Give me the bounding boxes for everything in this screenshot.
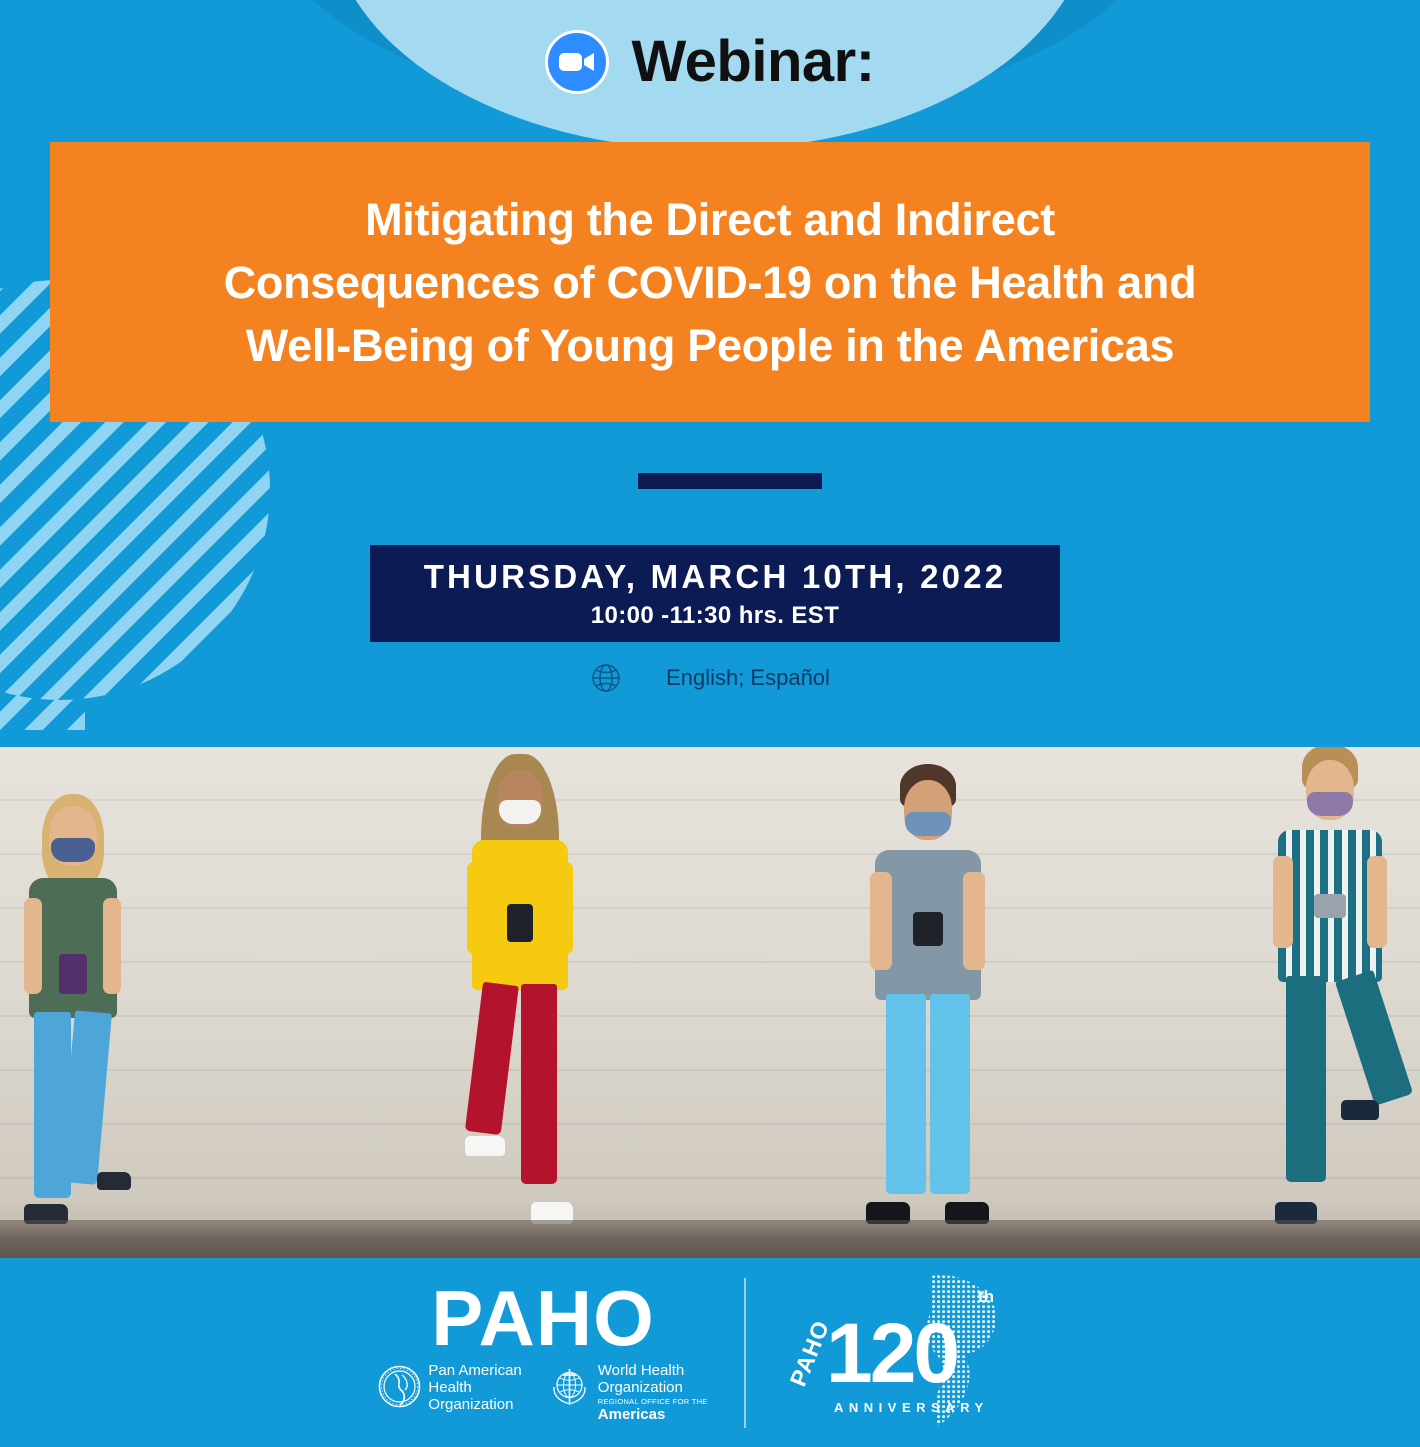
pan-american-health-organization-logo: Pan American Health Organization (378, 1363, 521, 1414)
person-2-mask (499, 800, 541, 824)
person-2 (455, 754, 585, 1224)
language-row: English; Español (0, 662, 1420, 694)
who-region-name: Americas (598, 1407, 708, 1424)
photo-young-people (0, 747, 1420, 1258)
webinar-poster: Webinar: Mitigating the Direct and Indir… (0, 0, 1420, 1447)
event-date: THURSDAY, MARCH 10TH, 2022 (424, 557, 1007, 597)
zoom-video-icon (545, 30, 609, 94)
person-4-mask (1307, 792, 1353, 816)
paho-logo: PAHO Pan Am (378, 1281, 707, 1424)
event-time: 10:00 -11:30 hrs. EST (591, 602, 840, 630)
paho-120th-anniversary-logo: PAHO 120 th ANNIVERSARY (782, 1270, 1042, 1435)
divider-bar (638, 473, 822, 489)
ground-strip (0, 1224, 1420, 1258)
anniversary-label: ANNIVERSARY (834, 1400, 989, 1415)
person-1-arm-right (103, 898, 121, 994)
title-banner: Mitigating the Direct and Indirect Conse… (50, 142, 1370, 422)
title-line-2: Consequences of COVID-19 on the Health a… (224, 260, 1197, 305)
who-emblem-icon (548, 1365, 591, 1408)
person-4-arm-right (1367, 856, 1387, 948)
footer-divider (744, 1278, 746, 1428)
webinar-header: Webinar: (0, 30, 1420, 94)
webinar-label: Webinar: (631, 33, 874, 91)
person-3 (860, 764, 995, 1224)
person-1-mask (51, 838, 95, 862)
who-line-2: Organization (598, 1380, 708, 1397)
title-line-1: Mitigating the Direct and Indirect (365, 197, 1055, 242)
person-3-arm-left (870, 872, 892, 970)
person-1-shoe-right (97, 1172, 131, 1190)
title-line-3: Well-Being of Young People in the Americ… (246, 323, 1174, 368)
person-3-phone (913, 912, 943, 946)
who-line-1: World Health (598, 1363, 708, 1380)
paho-seal-icon (378, 1365, 421, 1408)
person-4-shoe-right (1341, 1100, 1379, 1120)
person-2-phone (507, 904, 533, 942)
language-label: English; Español (666, 665, 830, 691)
person-4-legs (1284, 976, 1376, 1182)
pan-american-line-3: Organization (428, 1397, 521, 1414)
event-date-block: THURSDAY, MARCH 10TH, 2022 10:00 -11:30 … (370, 545, 1060, 642)
pan-american-line-2: Health (428, 1380, 521, 1397)
person-1 (10, 794, 135, 1224)
person-1-phone (59, 954, 87, 994)
person-2-arm-right (553, 862, 573, 954)
person-4 (1265, 747, 1395, 1224)
world-health-organization-logo: World Health Organization REGIONAL OFFIC… (548, 1363, 708, 1424)
person-3-mask (905, 812, 951, 836)
paho-wordmark: PAHO (431, 1281, 655, 1355)
person-2-arm-left (467, 862, 487, 954)
person-4-arm-left (1273, 856, 1293, 948)
anniversary-number: 120 (826, 1306, 957, 1400)
pan-american-line-1: Pan American (428, 1363, 521, 1380)
anniversary-ordinal: th (978, 1287, 994, 1306)
person-2-shoe-left (465, 1136, 505, 1156)
person-3-legs (882, 994, 974, 1194)
person-1-arm-left (24, 898, 42, 994)
footer-logo-bar: PAHO Pan Am (0, 1258, 1420, 1447)
person-4-phone (1314, 894, 1346, 918)
person-1-legs (32, 1012, 114, 1198)
globe-icon (590, 662, 622, 694)
person-3-arm-right (963, 872, 985, 970)
